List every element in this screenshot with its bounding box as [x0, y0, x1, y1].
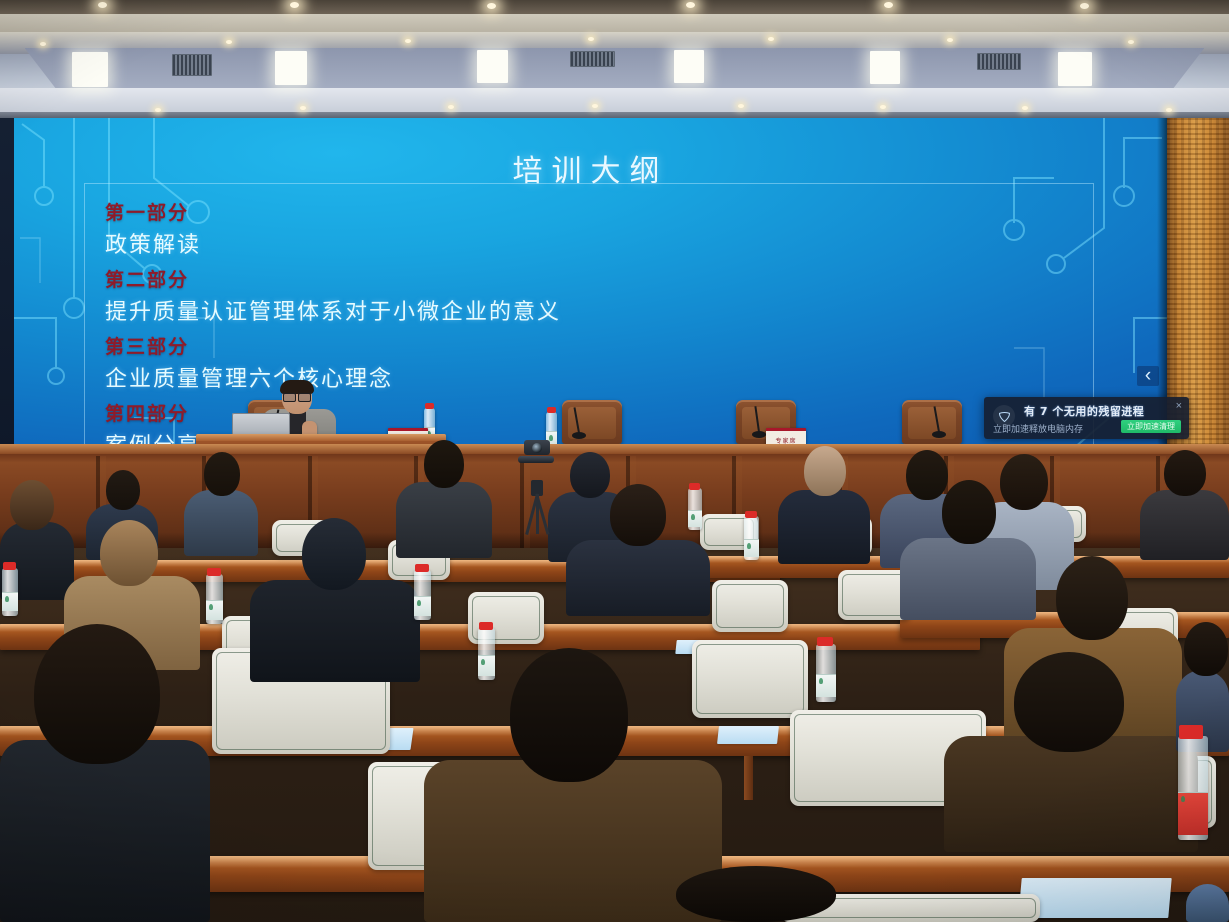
- bottle-cap: [479, 622, 493, 630]
- ceiling-spot-light: [226, 40, 232, 44]
- ceiling-spot-light: [588, 37, 594, 41]
- bottle-label: [688, 510, 702, 527]
- person-head: [676, 866, 836, 922]
- ceiling-spot-light: [884, 2, 893, 8]
- bottle-cap: [415, 564, 429, 572]
- slide-section-heading: 第三部分: [105, 332, 1073, 359]
- water-bottle: [1178, 736, 1208, 840]
- system-notification-popup[interactable]: 有 7 个无用的残留进程 立即加速释放电脑内存 立即加速清理 ×: [984, 397, 1189, 439]
- bottle-label: [478, 655, 495, 676]
- ceiling-light-panel: [674, 50, 704, 83]
- person-body: [1140, 490, 1229, 560]
- water-bottle: [2, 568, 18, 616]
- video-camera-tripod: [518, 440, 554, 532]
- person-head: [204, 452, 240, 496]
- person-head: [804, 446, 846, 496]
- audience-member: [0, 624, 210, 922]
- ceiling-spot-light: [947, 38, 953, 42]
- head-table-chair: [562, 400, 622, 444]
- person-head: [610, 484, 666, 546]
- ceiling-air-vent: [570, 51, 615, 67]
- person-head: [34, 624, 160, 764]
- audience-member: [944, 652, 1198, 852]
- conference-room-screenshot: 培训大纲 第一部分 政策解读 第二部分 提升质量认证管理体系对于小微企业的意义 …: [0, 0, 1229, 922]
- ceiling-rim-light: [448, 105, 454, 109]
- person-head: [510, 648, 628, 782]
- person-body: [566, 540, 710, 616]
- ceiling-rim-light: [880, 105, 886, 109]
- person-body: [0, 740, 210, 922]
- audience-member: [778, 446, 870, 564]
- bottle-label: [744, 539, 759, 557]
- person-head: [1184, 622, 1228, 676]
- person-head: [302, 518, 366, 590]
- presenter-hair: [280, 380, 314, 394]
- camera-lens: [532, 443, 542, 453]
- ceiling-rim-light: [738, 104, 744, 108]
- audience-member: [1186, 884, 1229, 922]
- bottle-label: [414, 596, 431, 616]
- slide-section-heading: 第二部分: [105, 265, 1073, 292]
- handout-paper: [1018, 878, 1171, 918]
- person-body: [778, 490, 870, 564]
- bottle-cap: [207, 568, 221, 576]
- head-table-chair: [902, 400, 962, 444]
- bottle-cap: [3, 562, 16, 570]
- bottle-label: [206, 600, 223, 620]
- ceiling-spot-light: [1080, 3, 1089, 9]
- ceiling-light-panel: [477, 50, 508, 83]
- person-head: [106, 470, 140, 510]
- bottle-cap: [689, 483, 700, 490]
- bottle-label: [816, 674, 836, 697]
- ceiling-rim-light: [592, 104, 598, 108]
- ceiling-rim-light: [1022, 106, 1028, 110]
- person-body: [250, 580, 420, 682]
- slide-section-body: 提升质量认证管理体系对于小微企业的意义: [105, 294, 1073, 326]
- ceiling-air-vent: [172, 54, 212, 76]
- ceiling-spot-light: [290, 2, 299, 8]
- water-bottle: [688, 488, 702, 530]
- ceiling-band-second: [0, 14, 1229, 32]
- presenter-glasses: [283, 393, 311, 400]
- ceiling-spot-light: [768, 37, 774, 41]
- handout-paper: [717, 726, 779, 744]
- water-bottle: [206, 574, 223, 624]
- audience-member: [250, 518, 420, 682]
- ceiling-spot-light: [1128, 40, 1134, 44]
- ceiling: [0, 0, 1229, 124]
- slide-section-body: 政策解读: [105, 227, 1073, 259]
- slide-section-heading: 第一部分: [105, 198, 1073, 225]
- person-head: [424, 440, 464, 488]
- bottle-label: [1178, 792, 1208, 835]
- ceiling-light-panel: [275, 51, 307, 85]
- ceiling-rim-light: [300, 106, 306, 110]
- popup-title: 有 7 个无用的残留进程: [1024, 403, 1144, 419]
- microphone-base: [932, 431, 946, 438]
- water-bottle: [478, 628, 495, 680]
- ceiling-spot-light: [487, 3, 496, 9]
- bottle-cap: [745, 511, 757, 518]
- audience-member: [636, 866, 872, 922]
- bottle-cap: [547, 407, 556, 413]
- ceiling-spot-light: [405, 39, 411, 43]
- microphone-base: [752, 431, 766, 438]
- close-icon[interactable]: ×: [1176, 401, 1182, 412]
- water-bottle: [744, 516, 759, 560]
- person-head: [1014, 652, 1124, 752]
- ceiling-rim-light: [155, 108, 161, 112]
- person-body: [944, 736, 1198, 852]
- ceiling-spot-light: [98, 2, 107, 8]
- person-head: [1164, 450, 1206, 496]
- ceiling-light-panel: [1058, 52, 1092, 86]
- person-head: [942, 480, 996, 544]
- audience-member: [1140, 450, 1229, 560]
- ceiling-spot-light: [40, 42, 46, 46]
- ceiling-air-vent: [977, 53, 1021, 70]
- ceiling-band-top: [0, 0, 1229, 14]
- tripod-leg: [536, 494, 539, 534]
- ceiling-spot-light: [686, 2, 695, 8]
- desk-leg: [744, 756, 753, 800]
- ceiling-rim-light: [1166, 108, 1172, 112]
- popup-subtitle: 立即加速释放电脑内存: [993, 422, 1083, 435]
- bottle-label: [2, 592, 18, 611]
- person-head: [100, 520, 158, 586]
- popup-action-button[interactable]: 立即加速清理: [1121, 420, 1181, 433]
- slide-section-body: 企业质量管理六个核心理念: [105, 361, 1073, 393]
- screen-edge-prev-arrow[interactable]: ‹: [1137, 366, 1159, 386]
- bottle-cap: [817, 637, 833, 646]
- water-bottle: [816, 644, 836, 702]
- person-body: [1186, 884, 1229, 922]
- bottle-cap: [1179, 725, 1203, 739]
- camera-mount-bar: [518, 456, 554, 463]
- water-bottle: [414, 570, 431, 620]
- ceiling-light-panel: [870, 51, 900, 84]
- microphone-base: [572, 432, 586, 439]
- person-head: [1056, 556, 1128, 640]
- ceiling-light-panel: [72, 52, 108, 87]
- person-head: [10, 480, 54, 530]
- bottle-cap: [425, 403, 434, 409]
- audience-chair: [712, 580, 788, 632]
